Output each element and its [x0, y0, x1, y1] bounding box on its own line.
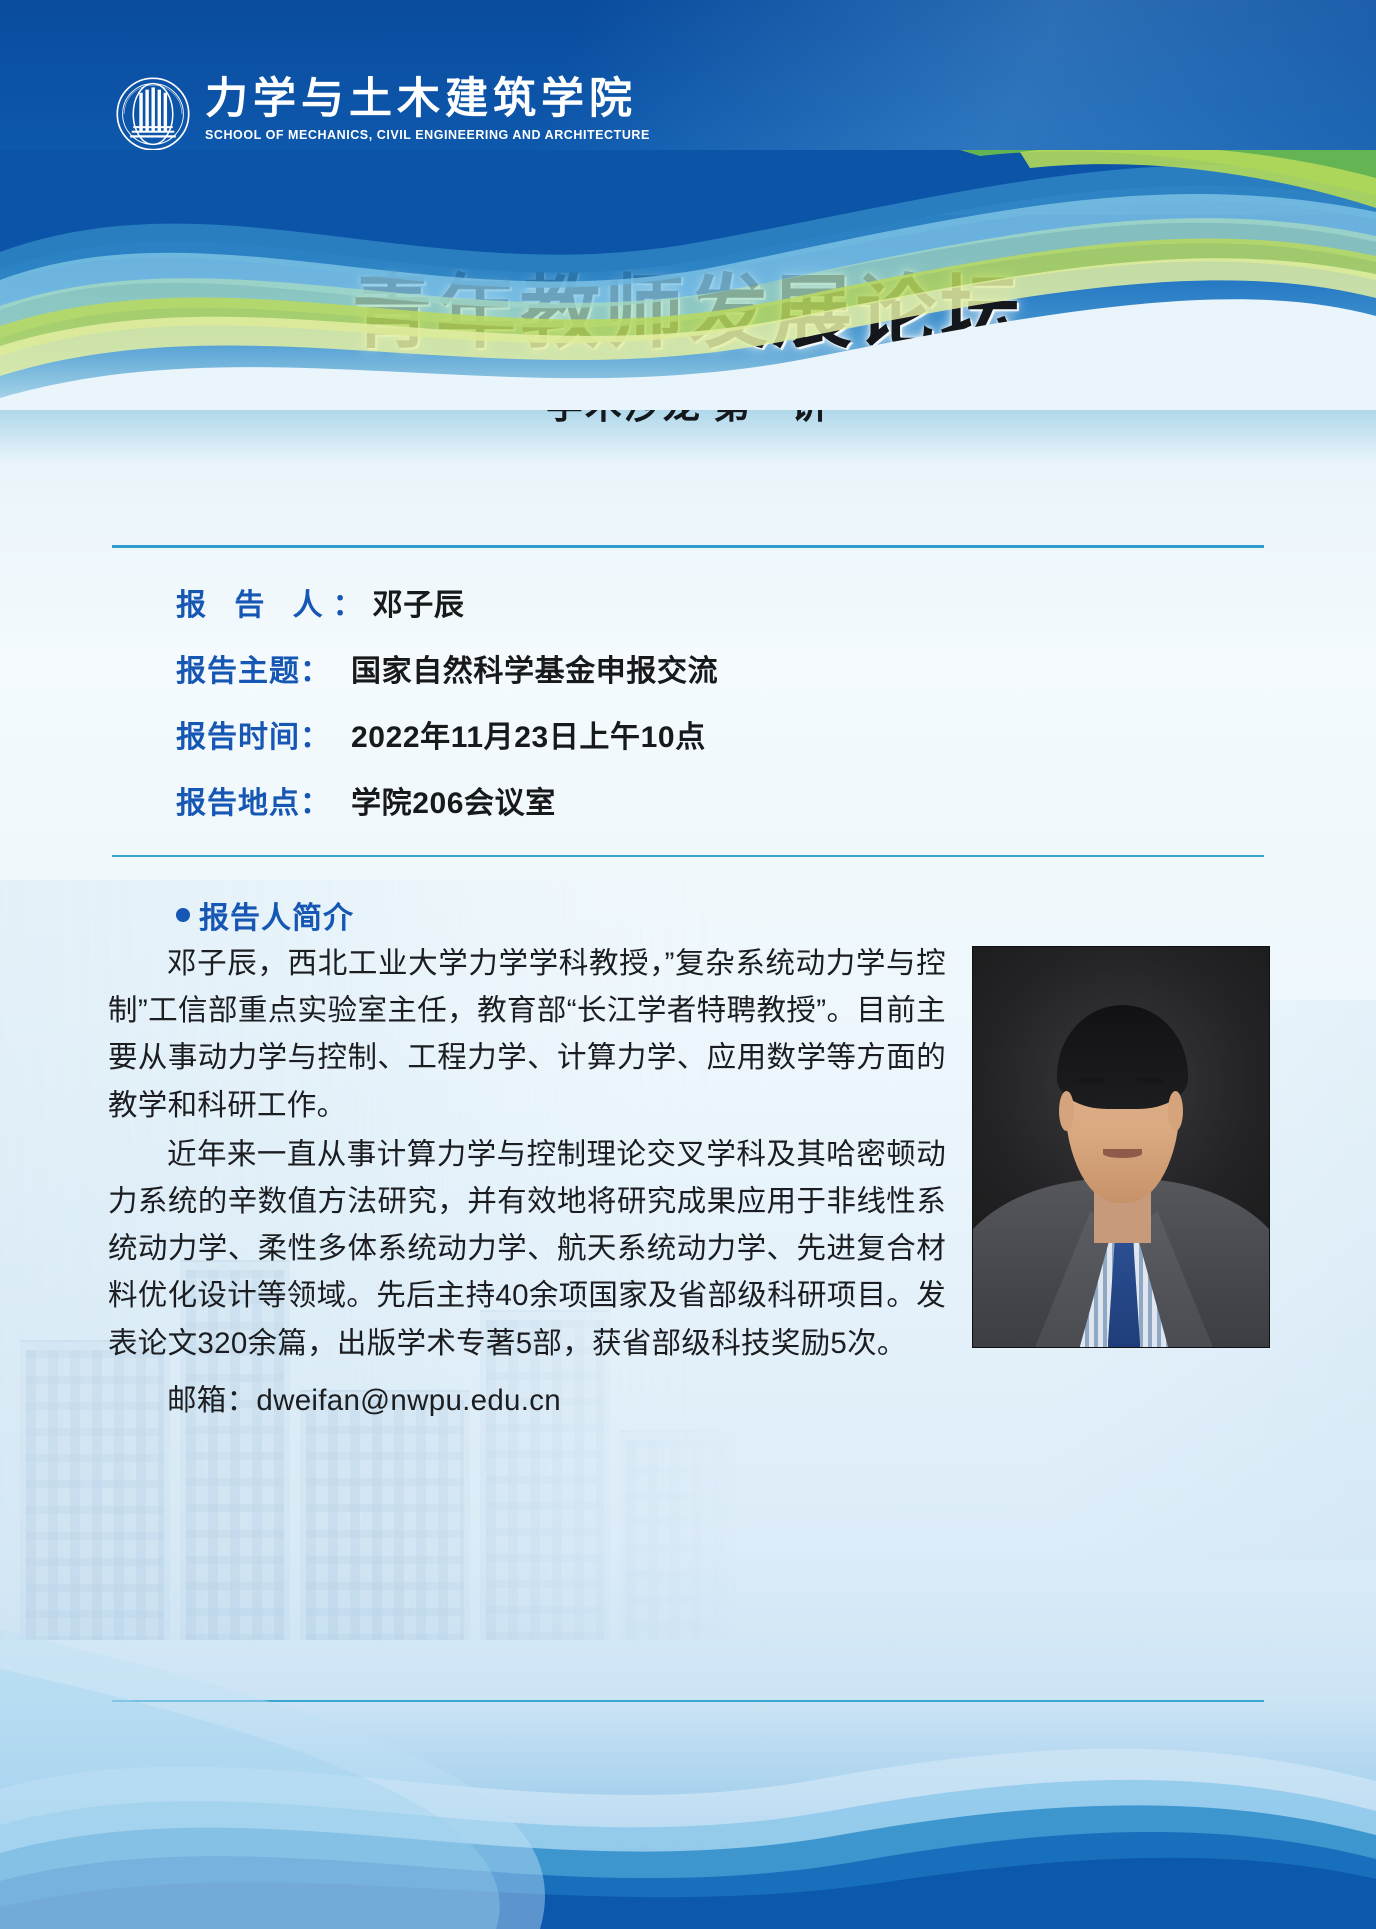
poster-root: 力学与土木建筑学院 SCHOOL OF MECHANICS, CIVIL ENG…	[0, 0, 1376, 1929]
page-subtitle: 学术沙龙 第一讲	[0, 375, 1376, 429]
info-value-time: 2022年11月23日上午10点	[351, 712, 706, 756]
dash-right-icon	[836, 399, 906, 404]
footer-motto-3: 铸造建筑之魂	[822, 1845, 984, 1873]
info-value-topic: 国家自然科学基金申报交流	[351, 646, 718, 690]
info-row-time: 报告时间： 2022年11月23日上午10点	[176, 712, 1236, 756]
poster-header: 力学与土木建筑学院 SCHOOL OF MECHANICS, CIVIL ENG…	[0, 0, 1376, 190]
info-row-speaker: 报 告 人： 邓子辰	[176, 580, 1236, 624]
bio-heading-text: 报告人简介	[199, 893, 354, 937]
info-label-speaker: 报 告 人：	[176, 580, 373, 624]
footer-motto-2: 夯实土木之基	[607, 1845, 769, 1873]
info-row-topic: 报告主题： 国家自然科学基金申报交流	[176, 646, 1236, 690]
school-logo: 力学与土木建筑学院 SCHOOL OF MECHANICS, CIVIL ENG…	[115, 76, 650, 152]
footer-motto-1: 擎举力学大旗	[392, 1845, 554, 1873]
info-label-location: 报告地点：	[176, 778, 351, 822]
school-name-en: SCHOOL OF MECHANICS, CIVIL ENGINEERING A…	[205, 128, 650, 142]
title-block: 青年教师发展论坛 学术沙龙 第一讲	[0, 272, 1376, 429]
bio-body: 邓子辰，西北工业大学力学学科教授，”复杂系统动力学与控制”工信部重点实验室主任，…	[108, 940, 1276, 1424]
divider-bottom	[112, 1700, 1264, 1702]
dash-left-icon	[470, 399, 540, 404]
page-subtitle-text: 学术沙龙 第一讲	[546, 375, 830, 429]
info-row-location: 报告地点： 学院206会议室	[176, 778, 1236, 822]
info-value-speaker: 邓子辰	[373, 580, 465, 624]
footer-motto: 擎举力学大旗 夯实土木之基 铸造建筑之魂	[0, 1839, 1376, 1875]
school-name-cn: 力学与土木建筑学院	[205, 78, 650, 121]
page-title: 青年教师发展论坛	[0, 272, 1376, 357]
speaker-portrait	[972, 946, 1270, 1348]
school-emblem-icon	[115, 76, 191, 152]
info-label-time: 报告时间：	[176, 712, 351, 756]
divider-middle	[112, 855, 1264, 857]
bullet-icon	[176, 908, 190, 922]
bio-email-line: 邮箱：dweifan@nwpu.edu.cn	[108, 1377, 1276, 1424]
event-info-list: 报 告 人： 邓子辰 报告主题： 国家自然科学基金申报交流 报告时间： 2022…	[176, 580, 1236, 844]
divider-top	[112, 545, 1264, 548]
bio-section-heading: 报告人简介	[176, 893, 354, 937]
info-label-topic: 报告主题：	[176, 646, 351, 690]
info-value-location: 学院206会议室	[351, 778, 556, 822]
